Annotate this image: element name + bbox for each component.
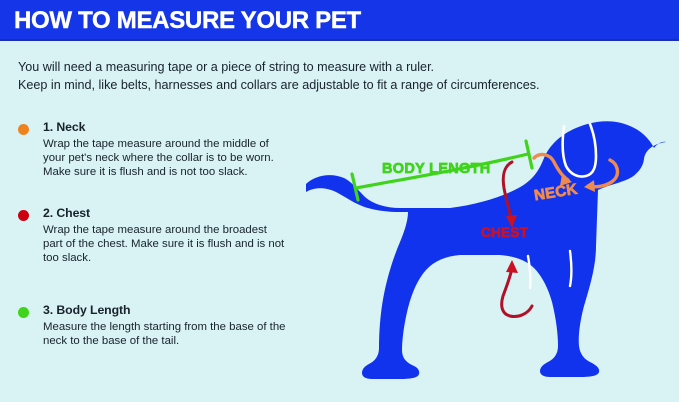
step-desc-chest: Wrap the tape measure around the broades… xyxy=(43,223,308,266)
step-title-neck: 1. Neck xyxy=(43,120,308,135)
step-desc-line: part of the chest. Make sure it is flush… xyxy=(43,237,308,251)
step-item-neck: 1. Neck Wrap the tape measure around the… xyxy=(18,120,308,180)
label-chest: CHEST xyxy=(481,225,528,240)
page-title: HOW TO MEASURE YOUR PET xyxy=(14,7,361,35)
header-underline xyxy=(0,39,679,41)
step-desc-line: too slack. xyxy=(43,251,308,265)
intro-line-1: You will need a measuring tape or a piec… xyxy=(18,58,638,76)
step-body-neck: 1. Neck Wrap the tape measure around the… xyxy=(43,120,308,180)
label-body-length: BODY LENGTH xyxy=(382,161,491,177)
dog-front-leg-line-icon xyxy=(570,251,572,286)
step-body-chest: 2. Chest Wrap the tape measure around th… xyxy=(43,206,308,266)
step-desc-neck: Wrap the tape measure around the middle … xyxy=(43,137,308,180)
step-title-body-length: 3. Body Length xyxy=(43,303,308,318)
step-desc-line: Measure the length starting from the bas… xyxy=(43,320,308,334)
bullet-body-length-icon xyxy=(18,307,29,318)
step-item-chest: 2. Chest Wrap the tape measure around th… xyxy=(18,206,308,266)
step-title-chest: 2. Chest xyxy=(43,206,308,221)
bullet-chest-icon xyxy=(18,210,29,221)
step-desc-body-length: Measure the length starting from the bas… xyxy=(43,320,308,348)
step-desc-line: Wrap the tape measure around the broades… xyxy=(43,223,308,237)
dog-measurement-diagram: BODY LENGTH NECK CHEST xyxy=(300,96,679,396)
intro-text: You will need a measuring tape or a piec… xyxy=(18,58,638,94)
step-item-body-length: 3. Body Length Measure the length starti… xyxy=(18,303,308,348)
step-desc-line: neck to the base of the tail. xyxy=(43,334,308,348)
intro-line-2: Keep in mind, like belts, harnesses and … xyxy=(18,76,638,94)
step-body-body-length: 3. Body Length Measure the length starti… xyxy=(43,303,308,348)
bullet-neck-icon xyxy=(18,124,29,135)
step-desc-line: Wrap the tape measure around the middle … xyxy=(43,137,308,151)
infographic-page: HOW TO MEASURE YOUR PET You will need a … xyxy=(0,0,679,402)
step-desc-line: Make sure it is flush and is not too sla… xyxy=(43,165,308,179)
step-desc-line: your pet's neck where the collar is to b… xyxy=(43,151,308,165)
